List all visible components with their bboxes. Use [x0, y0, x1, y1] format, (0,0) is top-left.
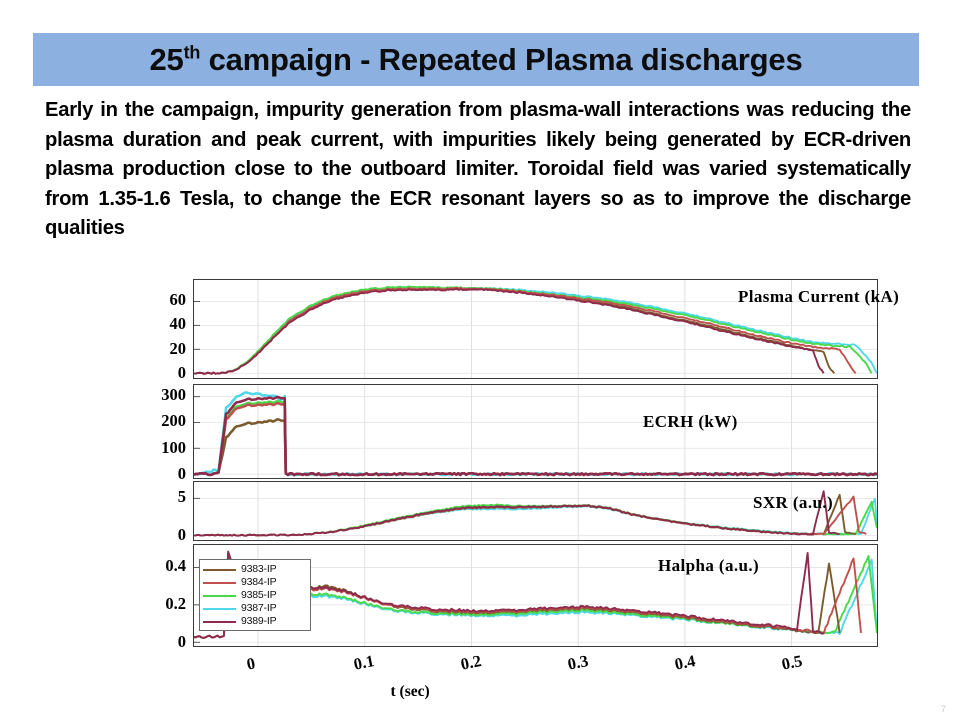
panel-title-sxr: SXR (a.u.) — [753, 493, 833, 513]
y-tick-sxr-0: 0 — [178, 527, 186, 544]
page-title: 25th campaign - Repeated Plasma discharg… — [150, 44, 803, 75]
slide-title-banner: 25th campaign - Repeated Plasma discharg… — [33, 33, 919, 86]
legend-item-9383-ip[interactable]: 9383-IP — [203, 563, 306, 576]
x-axis-ticks: 00.10.20.30.40.5 — [78, 653, 878, 693]
title-superscript: th — [184, 43, 201, 63]
x-tick-0: 0 — [245, 653, 257, 674]
legend-item-9384-ip[interactable]: 9384-IP — [203, 576, 306, 589]
legend-item-9389-ip[interactable]: 9389-IP — [203, 615, 306, 628]
legend-label: 9387-IP — [241, 603, 276, 614]
title-prefix: 25 — [150, 42, 184, 77]
legend-item-9387-ip[interactable]: 9387-IP — [203, 602, 306, 615]
legend-item-9385-ip[interactable]: 9385-IP — [203, 589, 306, 602]
legend-label: 9383-IP — [241, 564, 276, 575]
legend-label: 9389-IP — [241, 616, 276, 627]
y-tick-halpha-0: 0 — [178, 634, 186, 651]
title-rest: campaign - Repeated Plasma discharges — [200, 42, 802, 77]
x-tick-4: 0.4 — [673, 651, 697, 675]
x-tick-5: 0.5 — [780, 651, 804, 675]
multi-panel-figure: 0204060 0100200300 05 00.20.4 Plasma Cur… — [78, 276, 878, 701]
slide-body-paragraph: Early in the campaign, impurity generati… — [45, 96, 911, 244]
plot-panel-ecrh — [193, 384, 878, 479]
y-tick-ecrh-2: 200 — [161, 413, 186, 430]
x-tick-1: 0.1 — [352, 651, 376, 675]
legend-label: 9385-IP — [241, 590, 276, 601]
y-tick-halpha-1: 0.2 — [165, 596, 186, 613]
panel-title-plasma-current: Plasma Current (kA) — [738, 287, 899, 307]
chart-legend: 9383-IP9384-IP9385-IP9387-IP9389-IP — [199, 559, 311, 631]
y-tick-sxr-1: 5 — [178, 489, 186, 506]
y-tick-ecrh-3: 300 — [161, 387, 186, 404]
y-tick-plasma-current-1: 20 — [170, 341, 187, 358]
y-tick-plasma-current-3: 60 — [170, 292, 187, 309]
y-tick-plasma-current-0: 0 — [178, 365, 186, 382]
panel-title-ecrh: ECRH (kW) — [643, 412, 738, 432]
x-axis-label: t (sec) — [391, 683, 430, 701]
page-number: 7 — [941, 704, 946, 714]
legend-color-swatch-icon — [203, 621, 236, 623]
x-tick-2: 0.2 — [459, 651, 483, 675]
y-tick-plasma-current-2: 40 — [170, 316, 187, 333]
legend-color-swatch-icon — [203, 608, 236, 610]
legend-color-swatch-icon — [203, 582, 236, 584]
panel-title-halpha: Halpha (a.u.) — [658, 556, 759, 576]
legend-label: 9384-IP — [241, 577, 276, 588]
y-tick-ecrh-1: 100 — [161, 440, 186, 457]
y-tick-halpha-2: 0.4 — [165, 558, 186, 575]
y-tick-ecrh-0: 0 — [178, 466, 186, 483]
legend-color-swatch-icon — [203, 595, 236, 597]
legend-color-swatch-icon — [203, 569, 236, 571]
x-tick-3: 0.3 — [566, 651, 590, 675]
